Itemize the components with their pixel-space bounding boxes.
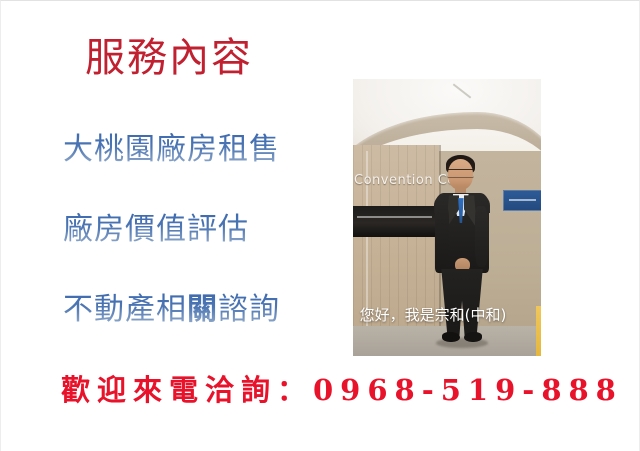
service-item-3-part-a: 不動產相 xyxy=(63,292,187,327)
service-item-3-emphasis: 關 xyxy=(187,292,218,327)
person-arm-right xyxy=(475,206,489,267)
person-glasses xyxy=(447,169,474,178)
photo-caption: 您好，我是宗和(中和) xyxy=(325,306,541,438)
service-item-2: 廠房價值評估 xyxy=(63,212,249,248)
service-item-1: 大桃園廠房租售 xyxy=(63,132,280,168)
person-arm-left xyxy=(435,206,449,267)
contact-cta: 歡迎來電洽詢：0968-519-888 xyxy=(61,373,623,407)
service-item-3: 不動產相關諮詢 xyxy=(63,292,280,328)
page-title: 服務內容 xyxy=(85,34,253,82)
service-item-3-part-b: 諮詢 xyxy=(218,292,280,327)
slide-canvas: 服務內容 大桃園廠房租售 廠房價值評估 不動產相關諮詢 Convention C… xyxy=(0,0,640,451)
